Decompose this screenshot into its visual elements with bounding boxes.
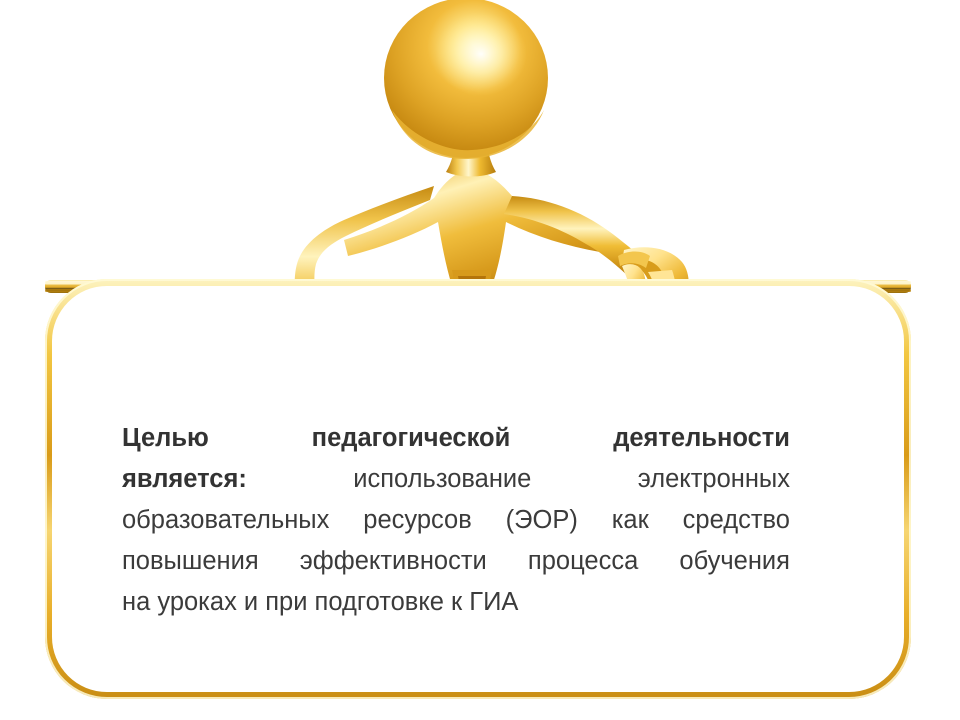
- text-word: является:: [122, 459, 247, 500]
- text-word: процесса: [528, 541, 638, 582]
- text-word: обучения: [679, 541, 790, 582]
- mascot-head: [384, 0, 548, 158]
- text-line-3: образовательных ресурсов (ЭОР) как средс…: [122, 500, 790, 541]
- text-word: эффективности: [300, 541, 487, 582]
- text-word: педагогической: [312, 418, 511, 459]
- text-word: электронных: [638, 459, 790, 500]
- mascot-head-highlight: [435, 12, 527, 96]
- text-word: Целью: [122, 418, 209, 459]
- text-line-1: Целью педагогической деятельности: [122, 418, 790, 459]
- mascot-neck: [446, 138, 496, 177]
- mascot-head-underlight: [392, 110, 544, 159]
- text-word: образовательных: [122, 500, 329, 541]
- text-word: повышения: [122, 541, 259, 582]
- slide-canvas: Целью педагогической деятельности являет…: [0, 0, 960, 720]
- text-word: как: [612, 500, 649, 541]
- mascot-right-arm: [504, 196, 648, 282]
- text-word: деятельности: [613, 418, 790, 459]
- text-word: (ЭОР): [506, 500, 578, 541]
- text-line-2: является: использование электронных: [122, 459, 790, 500]
- text-word: средство: [683, 500, 790, 541]
- text-word: ресурсов: [363, 500, 472, 541]
- text-line-5: на уроках и при подготовке к ГИА: [122, 582, 790, 623]
- slide-text-block: Целью педагогической деятельности являет…: [122, 418, 790, 623]
- text-line-4: повышения эффективности процесса обучени…: [122, 541, 790, 582]
- goal-statement: Целью педагогической деятельности являет…: [122, 418, 790, 623]
- mascot-torso: [344, 168, 604, 292]
- text-word: использование: [353, 459, 531, 500]
